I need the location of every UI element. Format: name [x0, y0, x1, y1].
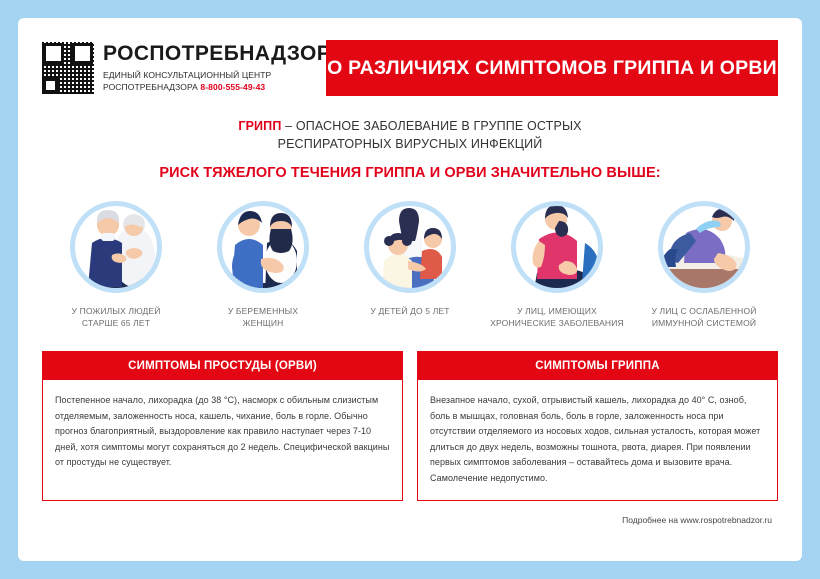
risk-group-label: У БЕРЕМЕННЫХ ЖЕНЩИН: [193, 305, 333, 329]
panel-text: Внезапное начало, сухой, отрывистый каше…: [418, 380, 777, 500]
qr-code-icon: [42, 42, 94, 94]
intro-accent-word: ГРИПП: [238, 119, 281, 133]
panel-title: СИМПТОМЫ ПРОСТУДЫ (ОРВИ): [43, 352, 402, 380]
risk-heading: РИСК ТЯЖЕЛОГО ТЕЧЕНИЯ ГРИППА И ОРВИ ЗНАЧ…: [18, 163, 802, 184]
panel-title: СИМПТОМЫ ГРИППА: [418, 352, 777, 380]
risk-group-item: У БЕРЕМЕННЫХ ЖЕНЩИН: [193, 199, 333, 329]
brand-subtitle-line1: ЕДИНЫЙ КОНСУЛЬТАЦИОННЫЙ ЦЕНТР: [103, 70, 271, 80]
intro-line-1-rest: – ОПАСНОЕ ЗАБОЛЕВАНИЕ В ГРУППЕ ОСТРЫХ: [281, 119, 581, 133]
pregnant-couple-illustration: [215, 199, 311, 295]
man-with-chronic-illness-illustration: [509, 199, 605, 295]
risk-group-label: У ДЕТЕЙ ДО 5 ЛЕТ: [340, 305, 480, 317]
brand-name: РОСПОТРЕБНАДЗОР: [103, 43, 331, 64]
panel-flu-symptoms: СИМПТОМЫ ГРИППА Внезапное начало, сухой,…: [417, 351, 778, 501]
risk-group-label: У ПОЖИЛЫХ ЛЮДЕЙ СТАРШЕ 65 ЛЕТ: [46, 305, 186, 329]
brand-subtitle-line2: РОСПОТРЕБНАДЗОРА: [103, 82, 198, 92]
poster-header: РОСПОТРЕБНАДЗОР ЕДИНЫЙ КОНСУЛЬТАЦИОННЫЙ …: [42, 40, 778, 96]
title-banner: О РАЗЛИЧИЯХ СИМПТОМОВ ГРИППА И ОРВИ: [326, 40, 778, 96]
resting-person-illustration: [656, 199, 752, 295]
risk-group-item: У ЛИЦ С ОСЛАБЛЕННОЙ ИММУННОЙ СИСТЕМОЙ: [634, 199, 774, 329]
risk-groups: У ПОЖИЛЫХ ЛЮДЕЙ СТАРШЕ 65 ЛЕТ: [46, 199, 774, 329]
intro-line-2: РЕСПИРАТОРНЫХ ВИРУСНЫХ ИНФЕКЦИЙ: [18, 136, 802, 154]
footer-link[interactable]: Подробнее на www.rospotrebnadzor.ru: [18, 515, 772, 525]
intro-line-1: ГРИПП – ОПАСНОЕ ЗАБОЛЕВАНИЕ В ГРУППЕ ОСТ…: [18, 118, 802, 136]
hotline-phone[interactable]: 8-800-555-49-43: [200, 82, 265, 92]
elderly-couple-illustration: [68, 199, 164, 295]
panel-text: Постепенное начало, лихорадка (до 38 °С)…: [43, 380, 402, 498]
mother-with-children-illustration: [362, 199, 458, 295]
risk-group-item: У ДЕТЕЙ ДО 5 ЛЕТ: [340, 199, 480, 329]
intro-block: ГРИПП – ОПАСНОЕ ЗАБОЛЕВАНИЕ В ГРУППЕ ОСТ…: [18, 118, 802, 183]
symptom-panels: СИМПТОМЫ ПРОСТУДЫ (ОРВИ) Постепенное нач…: [42, 351, 778, 501]
page-title: О РАЗЛИЧИЯХ СИМПТОМОВ ГРИППА И ОРВИ: [327, 57, 777, 80]
risk-group-item: У ПОЖИЛЫХ ЛЮДЕЙ СТАРШЕ 65 ЛЕТ: [46, 199, 186, 329]
risk-group-label: У ЛИЦ, ИМЕЮЩИХ ХРОНИЧЕСКИЕ ЗАБОЛЕВАНИЯ: [487, 305, 627, 329]
risk-group-item: У ЛИЦ, ИМЕЮЩИХ ХРОНИЧЕСКИЕ ЗАБОЛЕВАНИЯ: [487, 199, 627, 329]
risk-group-label: У ЛИЦ С ОСЛАБЛЕННОЙ ИММУННОЙ СИСТЕМОЙ: [634, 305, 774, 329]
brand-block: РОСПОТРЕБНАДЗОР ЕДИНЫЙ КОНСУЛЬТАЦИОННЫЙ …: [42, 40, 314, 96]
poster-card: РОСПОТРЕБНАДЗОР ЕДИНЫЙ КОНСУЛЬТАЦИОННЫЙ …: [18, 18, 802, 561]
brand-text: РОСПОТРЕБНАДЗОР ЕДИНЫЙ КОНСУЛЬТАЦИОННЫЙ …: [103, 43, 331, 93]
panel-cold-symptoms: СИМПТОМЫ ПРОСТУДЫ (ОРВИ) Постепенное нач…: [42, 351, 403, 501]
brand-subtitle: ЕДИНЫЙ КОНСУЛЬТАЦИОННЫЙ ЦЕНТР РОСПОТРЕБН…: [103, 70, 331, 93]
